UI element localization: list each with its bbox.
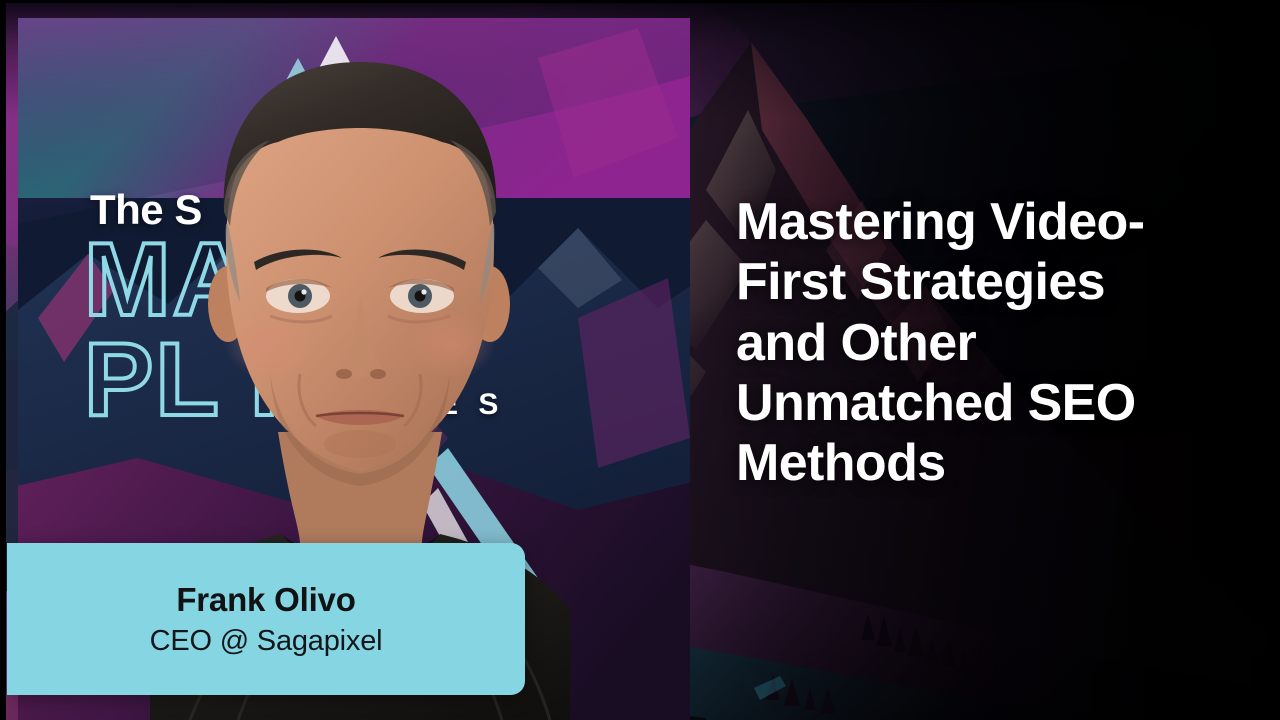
title-line-1: Mastering Video- [736,192,1236,252]
speaker-name-card: Frank Olivo CEO @ Sagapixel [7,543,525,695]
video-title-overlay: Mastering Video- First Strategies and Ot… [736,192,1236,494]
letterbox-left-edge [0,0,6,720]
speaker-name: Frank Olivo [176,579,355,620]
title-line-5: Methods [736,433,1236,493]
title-line-3: and Other [736,313,1236,373]
title-line-4: Unmatched SEO [736,373,1236,433]
video-frame: The S MA NG PL K E S [0,0,1280,720]
speaker-role: CEO @ Sagapixel [150,623,383,659]
letterbox-right-edge [1275,0,1280,720]
title-line-2: First Strategies [736,252,1236,312]
letterbox-top-edge [0,0,1280,3]
